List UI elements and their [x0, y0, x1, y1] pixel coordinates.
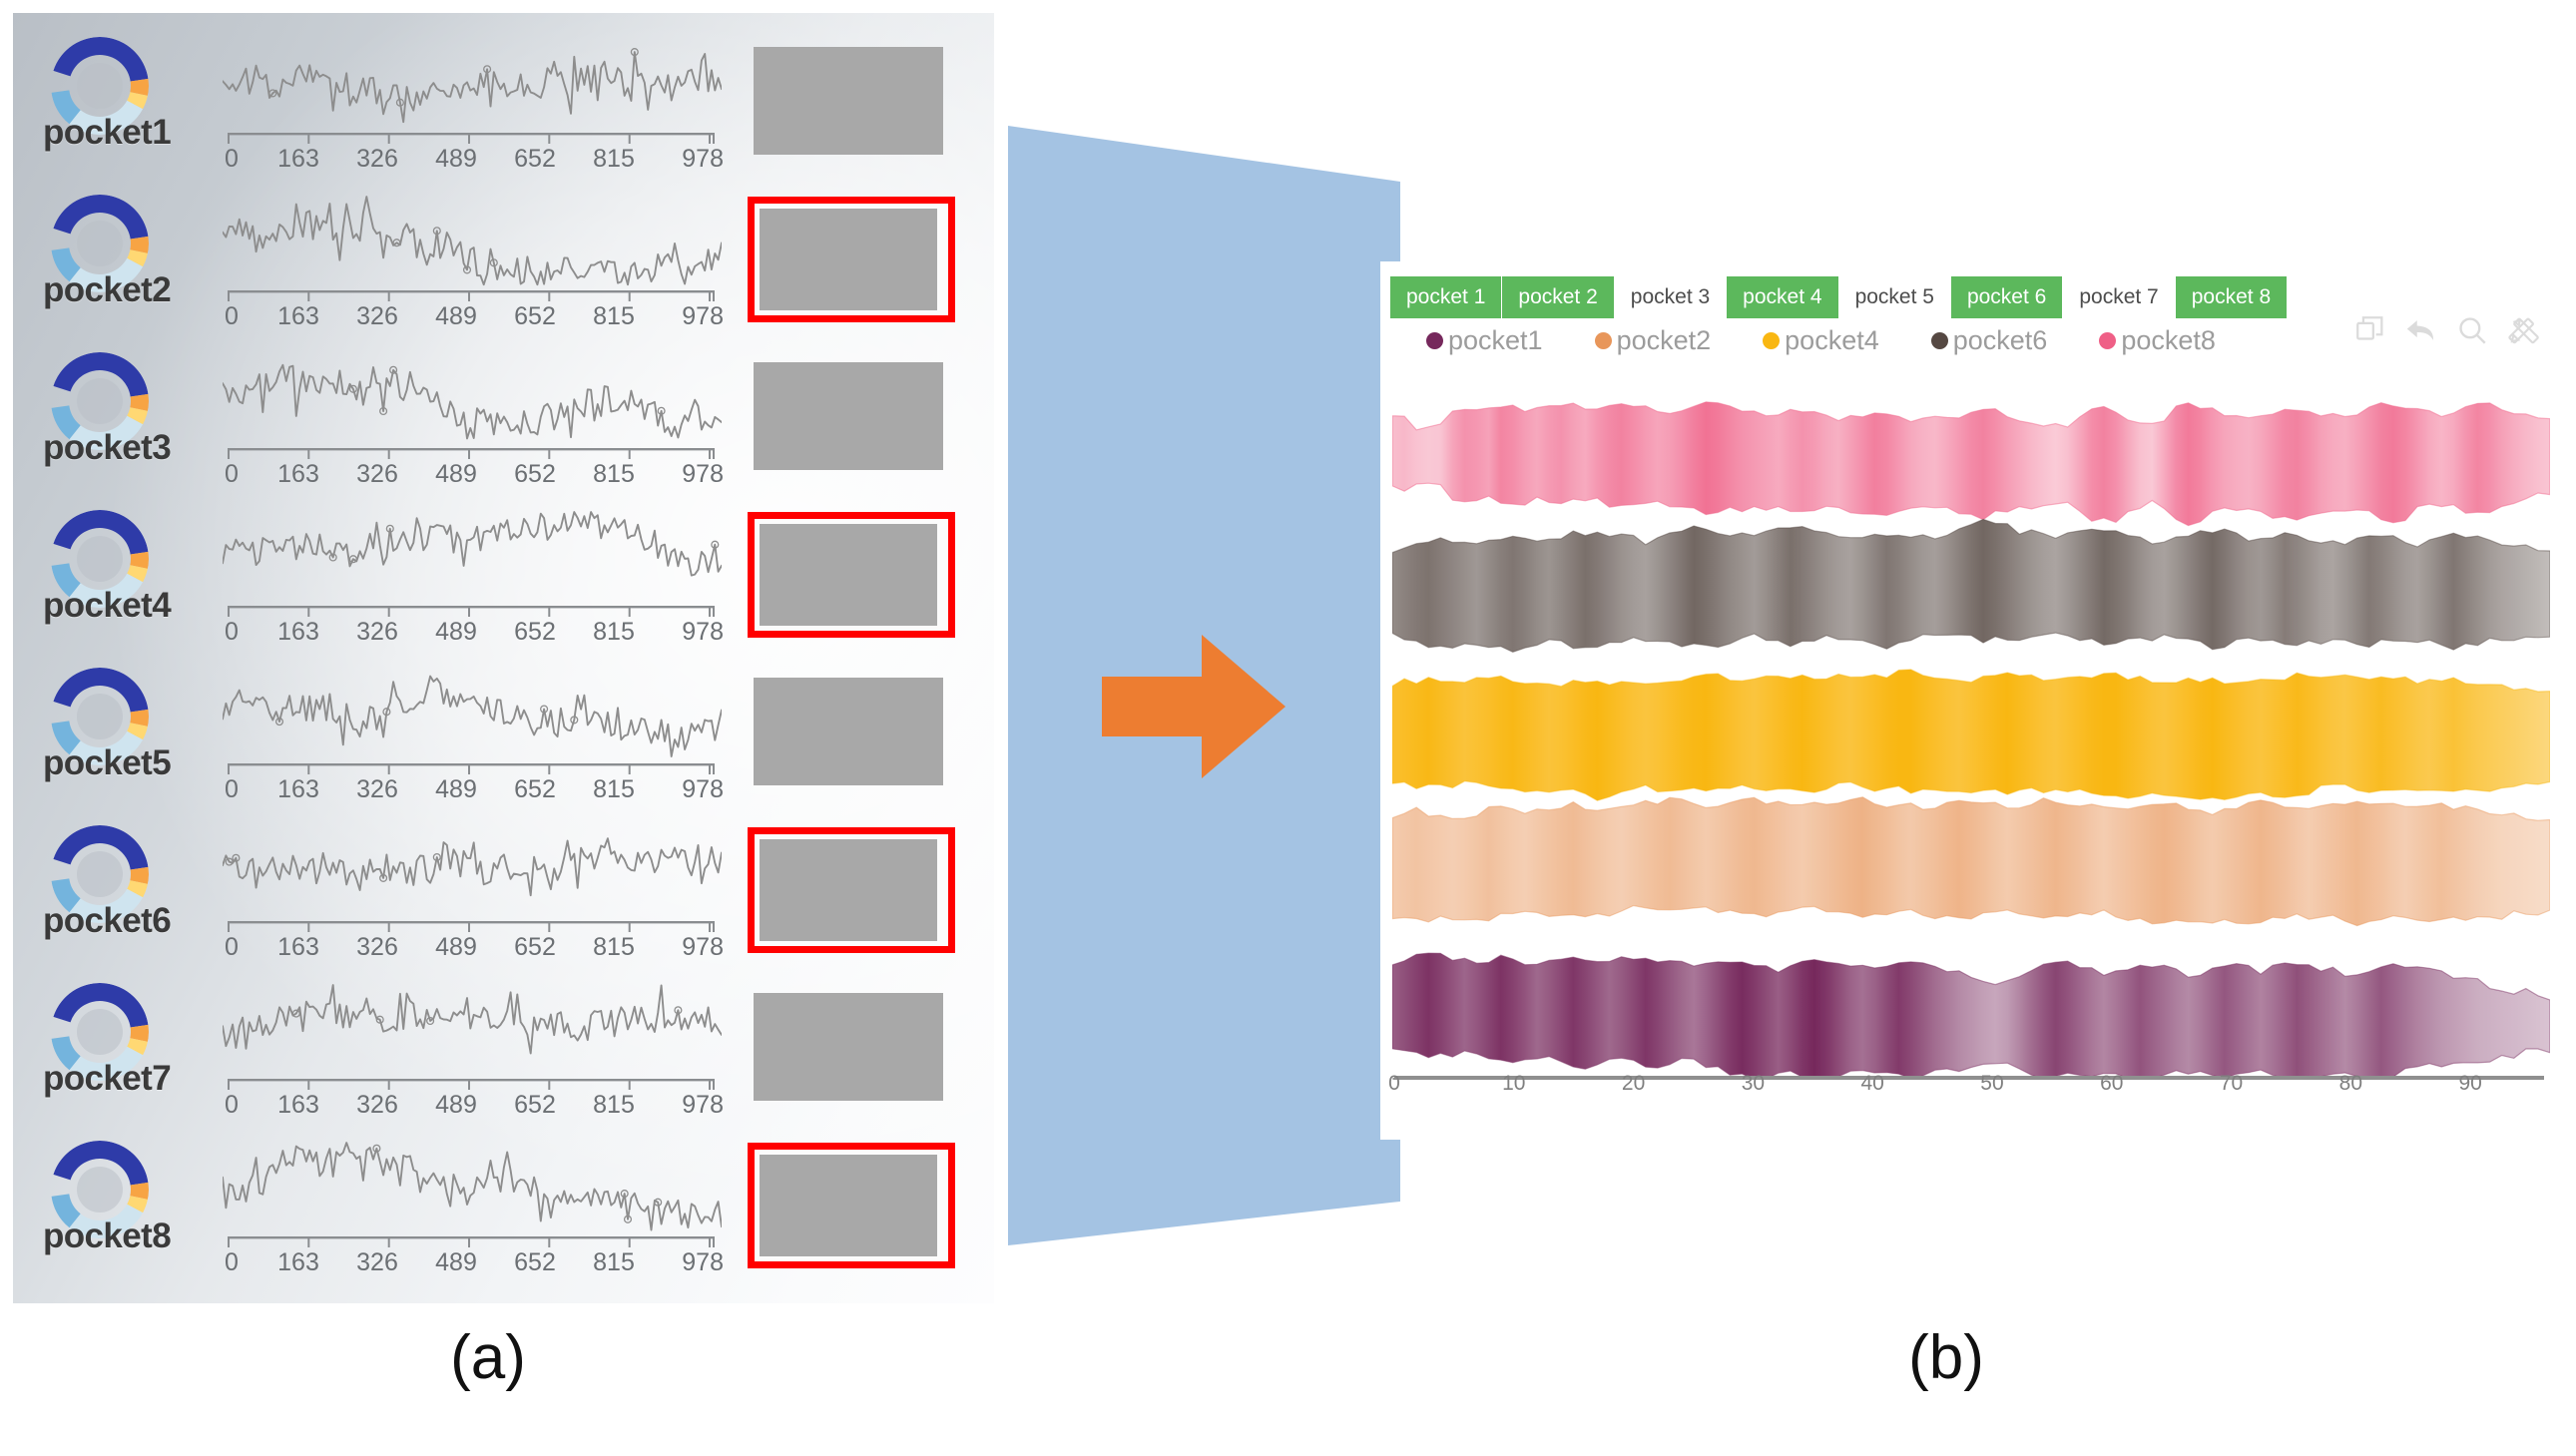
legend-item-pocket2[interactable]: pocket2 [1595, 325, 1712, 356]
axis-tick-label: 815 [585, 302, 643, 331]
search-icon[interactable] [2455, 313, 2489, 347]
tab-pocket-7[interactable]: pocket 7 [2063, 276, 2175, 318]
sparkline [223, 189, 722, 292]
axis-tick-label: 0 [225, 145, 249, 174]
x-tick-label: 50 [1980, 1072, 2003, 1096]
undo-icon[interactable] [2403, 313, 2439, 347]
placeholder-thumbnail[interactable] [754, 47, 943, 155]
axis-tick-label: 163 [269, 1091, 327, 1120]
legend-color-swatch [1595, 332, 1612, 349]
axis-tick-label: 652 [506, 460, 564, 489]
pocket-row: pocket2 0163326489652815978 [13, 183, 994, 339]
axis-tick-label: 163 [269, 618, 327, 647]
sparkline-axis-labels: 0163326489652815978 [225, 1091, 724, 1120]
legend-item-pocket1[interactable]: pocket1 [1426, 325, 1543, 356]
pocket-row-label: pocket2 [43, 270, 171, 310]
sparkline-axis-labels: 0163326489652815978 [225, 775, 724, 804]
placeholder-thumbnail[interactable] [754, 993, 943, 1101]
tab-pocket-6[interactable]: pocket 6 [1951, 276, 2063, 318]
legend-color-swatch [1763, 332, 1780, 349]
axis-tick-label: 163 [269, 1248, 327, 1277]
sparkline-axis-labels: 0163326489652815978 [225, 618, 724, 647]
axis-tick-label: 652 [506, 775, 564, 804]
x-tick-label: 70 [2220, 1072, 2243, 1096]
axis-tick-label: 815 [585, 460, 643, 489]
axis-tick-label: 163 [269, 460, 327, 489]
stream-band-pocket8 [1392, 402, 2550, 526]
sparkline [223, 819, 722, 923]
axis-tick-label: 163 [269, 145, 327, 174]
axis-tick-label: 326 [348, 145, 406, 174]
axis-tick-label: 815 [585, 775, 643, 804]
legend-label: pocket8 [2121, 325, 2216, 356]
pocket-row: pocket6 0163326489652815978 [13, 813, 994, 970]
axis-tick-label: 326 [348, 1091, 406, 1120]
axis-tick-label: 163 [269, 933, 327, 962]
legend-label: pocket2 [1617, 325, 1712, 356]
legend-label: pocket4 [1785, 325, 1879, 356]
sparkline [223, 977, 722, 1081]
axis-tick-label: 815 [585, 933, 643, 962]
pocket-tab-bar[interactable]: pocket 1pocket 2pocket 3pocket 4pocket 5… [1390, 276, 2288, 318]
legend-label: pocket1 [1448, 325, 1543, 356]
series-legend: pocket1pocket2pocket4pocket6pocket8 [1426, 325, 2216, 356]
placeholder-thumbnail[interactable] [754, 362, 943, 470]
axis-tick-label: 652 [506, 933, 564, 962]
x-tick-label: 60 [2100, 1072, 2123, 1096]
legend-item-pocket4[interactable]: pocket4 [1763, 325, 1879, 356]
legend-item-pocket8[interactable]: pocket8 [2099, 325, 2216, 356]
measure-icon[interactable] [2505, 313, 2541, 347]
axis-tick-label: 489 [427, 775, 485, 804]
sparkline [223, 346, 722, 450]
pocket-row: pocket5 0163326489652815978 [13, 656, 994, 812]
axis-tick-label: 652 [506, 302, 564, 331]
sparkline [223, 662, 722, 765]
stream-band-pocket1 [1392, 953, 2550, 1080]
legend-label: pocket6 [1953, 325, 2048, 356]
panel-a-overview: pocket1 0163326489652815978 pocket2 0163… [13, 13, 994, 1303]
figure-root: pocket1 0163326489652815978 pocket2 0163… [0, 0, 2576, 1456]
axis-tick-label: 652 [506, 145, 564, 174]
pocket-row-label: pocket4 [43, 586, 171, 626]
axis-tick-label: 0 [225, 618, 249, 647]
axis-tick-label: 978 [664, 1248, 724, 1277]
x-tick-label: 90 [2458, 1072, 2481, 1096]
stream-graph [1392, 381, 2550, 1080]
pocket-row-label: pocket8 [43, 1216, 171, 1256]
pocket-row: pocket8 0163326489652815978 [13, 1129, 994, 1285]
tab-pocket-5[interactable]: pocket 5 [1839, 276, 1951, 318]
x-tick-label: 80 [2339, 1072, 2362, 1096]
axis-tick-label: 652 [506, 1091, 564, 1120]
pocket-row-label: pocket1 [43, 113, 171, 153]
axis-tick-label: 0 [225, 1248, 249, 1277]
flagged-placeholder[interactable] [748, 197, 955, 322]
sparkline-axis-labels: 0163326489652815978 [225, 1248, 724, 1277]
tab-pocket-2[interactable]: pocket 2 [1502, 276, 1614, 318]
axis-tick-label: 326 [348, 933, 406, 962]
x-tick-label: 0 [1388, 1072, 1400, 1096]
legend-item-pocket6[interactable]: pocket6 [1931, 325, 2048, 356]
caption-b: (b) [1908, 1322, 1984, 1393]
pocket-row: pocket3 0163326489652815978 [13, 340, 994, 497]
sparkline-axis-labels: 0163326489652815978 [225, 460, 724, 489]
axis-tick-label: 489 [427, 1248, 485, 1277]
axis-tick-label: 0 [225, 775, 249, 804]
x-tick-label: 40 [1860, 1072, 1883, 1096]
sparkline [223, 1135, 722, 1238]
pocket-row: pocket1 0163326489652815978 [13, 25, 994, 182]
sparkline [223, 504, 722, 608]
axis-tick-label: 815 [585, 1091, 643, 1120]
axis-tick-label: 489 [427, 933, 485, 962]
axis-tick-label: 815 [585, 618, 643, 647]
axis-tick-label: 978 [664, 460, 724, 489]
caption-a: (a) [450, 1322, 526, 1393]
pocket-row-label: pocket3 [43, 428, 171, 468]
sparkline-axis-labels: 0163326489652815978 [225, 933, 724, 962]
axis-tick-label: 489 [427, 460, 485, 489]
x-tick-label: 30 [1742, 1072, 1765, 1096]
axis-tick-label: 815 [585, 145, 643, 174]
pocket-row-label: pocket6 [43, 901, 171, 941]
axis-tick-label: 489 [427, 1091, 485, 1120]
axis-tick-label: 489 [427, 145, 485, 174]
tab-pocket-4[interactable]: pocket 4 [1727, 276, 1838, 318]
axis-tick-label: 978 [664, 145, 724, 174]
flagged-placeholder[interactable] [748, 827, 955, 953]
axis-tick-label: 978 [664, 933, 724, 962]
axis-tick-label: 326 [348, 460, 406, 489]
axis-tick-label: 0 [225, 933, 249, 962]
pocket-row: pocket4 0163326489652815978 [13, 498, 994, 655]
pocket-row: pocket7 0163326489652815978 [13, 971, 994, 1128]
axis-tick-label: 0 [225, 460, 249, 489]
duplicate-icon[interactable] [2353, 313, 2387, 347]
tab-pocket-8[interactable]: pocket 8 [2176, 276, 2288, 318]
transform-arrow-block [986, 112, 1417, 1257]
axis-tick-label: 978 [664, 302, 724, 331]
x-tick-label: 20 [1622, 1072, 1645, 1096]
x-axis-tick-labels: 0102030405060708090 [1392, 1072, 2550, 1112]
axis-tick-label: 978 [664, 1091, 724, 1120]
axis-tick-label: 163 [269, 302, 327, 331]
stream-band-pocket4 [1392, 670, 2550, 800]
pocket-row-label: pocket7 [43, 1059, 171, 1099]
axis-tick-label: 489 [427, 302, 485, 331]
axis-tick-label: 652 [506, 1248, 564, 1277]
x-tick-label: 10 [1502, 1072, 1525, 1096]
axis-tick-label: 652 [506, 618, 564, 647]
axis-tick-label: 0 [225, 302, 249, 331]
sparkline-axis-labels: 0163326489652815978 [225, 145, 724, 174]
axis-tick-label: 326 [348, 1248, 406, 1277]
legend-color-swatch [1931, 332, 1948, 349]
flagged-placeholder[interactable] [748, 1143, 955, 1268]
axis-tick-label: 326 [348, 775, 406, 804]
legend-color-swatch [1426, 332, 1443, 349]
axis-tick-label: 0 [225, 1091, 249, 1120]
pocket-row-label: pocket5 [43, 743, 171, 783]
panel-b-stream: pocket 1pocket 2pocket 3pocket 4pocket 5… [1380, 261, 2563, 1140]
flagged-placeholder[interactable] [748, 512, 955, 638]
axis-tick-label: 978 [664, 775, 724, 804]
stream-band-pocket6 [1392, 519, 2550, 652]
axis-tick-label: 326 [348, 618, 406, 647]
chart-toolbar[interactable] [2353, 313, 2541, 347]
axis-tick-label: 978 [664, 618, 724, 647]
placeholder-thumbnail[interactable] [754, 678, 943, 785]
tab-pocket-1[interactable]: pocket 1 [1390, 276, 1502, 318]
axis-tick-label: 489 [427, 618, 485, 647]
tab-pocket-3[interactable]: pocket 3 [1615, 276, 1727, 318]
stream-band-pocket2 [1392, 797, 2550, 926]
stream-svg [1392, 381, 2550, 1080]
axis-tick-label: 326 [348, 302, 406, 331]
sparkline-axis-labels: 0163326489652815978 [225, 302, 724, 331]
legend-color-swatch [2099, 332, 2116, 349]
sparkline [223, 31, 722, 135]
axis-tick-label: 163 [269, 775, 327, 804]
axis-tick-label: 815 [585, 1248, 643, 1277]
